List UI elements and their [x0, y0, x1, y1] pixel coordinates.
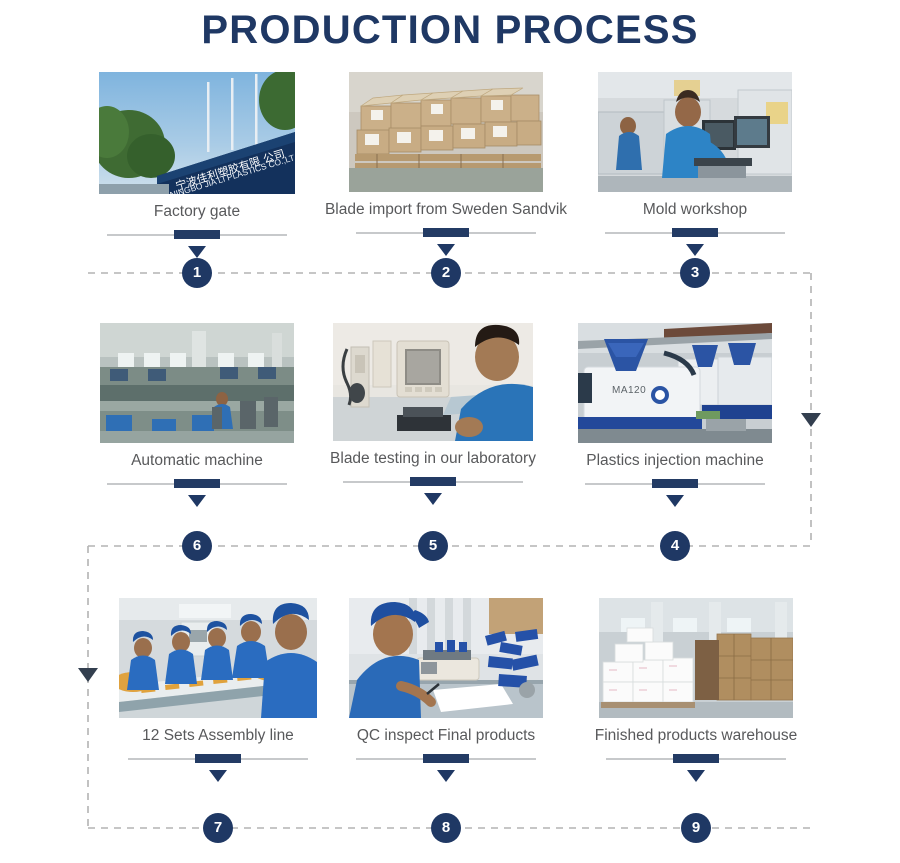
- step-triangle-icon: [188, 246, 206, 258]
- mold-workshop-photo: [598, 72, 792, 192]
- step-triangle-icon: [666, 495, 684, 507]
- process-step-4[interactable]: MA120 Plastics injection machine: [545, 323, 805, 507]
- plastics-injection-machine-photo: MA120: [578, 323, 772, 443]
- step-divider: [107, 229, 287, 241]
- page-title: PRODUCTION PROCESS: [0, 8, 900, 53]
- divider-block: [195, 754, 241, 763]
- divider-block: [673, 754, 719, 763]
- step-divider: [128, 753, 308, 765]
- step-divider: [606, 753, 786, 765]
- process-row-3: 12 Sets Assembly line: [0, 598, 900, 813]
- process-step-8[interactable]: QC inspect Final products: [316, 598, 576, 782]
- process-step-9[interactable]: Finished products warehouse: [566, 598, 826, 782]
- divider-block: [423, 754, 469, 763]
- step-number-3[interactable]: 3: [680, 258, 710, 288]
- process-row-2: Automatic machine: [0, 323, 900, 538]
- step-divider: [343, 476, 523, 488]
- process-step-5[interactable]: Blade testing in our laboratory: [303, 323, 563, 505]
- step-number-1[interactable]: 1: [182, 258, 212, 288]
- process-step-6[interactable]: Automatic machine: [67, 323, 327, 507]
- automatic-machine-photo: [100, 323, 294, 443]
- divider-block: [174, 230, 220, 239]
- process-step-7[interactable]: 12 Sets Assembly line: [88, 598, 348, 782]
- step-triangle-icon: [686, 244, 704, 256]
- assembly-line-photo: [119, 598, 317, 718]
- step-label: Factory gate: [67, 203, 327, 221]
- step-number-5[interactable]: 5: [418, 531, 448, 561]
- step-label: Blade import from Sweden Sandvik: [316, 201, 576, 219]
- step-label: 12 Sets Assembly line: [88, 727, 348, 745]
- step-number-8[interactable]: 8: [431, 813, 461, 843]
- step-triangle-icon: [437, 770, 455, 782]
- step-triangle-icon: [437, 244, 455, 256]
- step-triangle-icon: [687, 770, 705, 782]
- step-number-2[interactable]: 2: [431, 258, 461, 288]
- step-label: Plastics injection machine: [545, 452, 805, 470]
- blade-import-crates-photo: [349, 72, 543, 192]
- step-divider: [107, 478, 287, 490]
- step-number-7[interactable]: 7: [203, 813, 233, 843]
- flow-arrow-down-right: [801, 413, 821, 427]
- flow-arrow-down-left: [78, 668, 98, 682]
- process-step-2[interactable]: Blade import from Sweden Sandvik: [316, 72, 576, 256]
- step-divider: [585, 478, 765, 490]
- blade-testing-laboratory-photo: [333, 323, 533, 441]
- step-number-4[interactable]: 4: [660, 531, 690, 561]
- step-triangle-icon: [188, 495, 206, 507]
- divider-block: [652, 479, 698, 488]
- step-number-6[interactable]: 6: [182, 531, 212, 561]
- divider-block: [174, 479, 220, 488]
- qc-inspection-photo: [349, 598, 543, 718]
- process-row-1: 宁波佳利塑胶有限 公司 NINGBO JIA LI PLASTICS CO.,L…: [0, 72, 900, 287]
- step-label: Mold workshop: [565, 201, 825, 219]
- process-step-1[interactable]: 宁波佳利塑胶有限 公司 NINGBO JIA LI PLASTICS CO.,L…: [67, 72, 327, 258]
- step-label: QC inspect Final products: [316, 727, 576, 745]
- step-divider: [356, 227, 536, 239]
- step-triangle-icon: [424, 493, 442, 505]
- finished-goods-warehouse-photo: [599, 598, 793, 718]
- divider-block: [410, 477, 456, 486]
- step-divider: [356, 753, 536, 765]
- step-label: Automatic machine: [67, 452, 327, 470]
- step-triangle-icon: [209, 770, 227, 782]
- step-label: Blade testing in our laboratory: [303, 450, 563, 468]
- process-step-3[interactable]: Mold workshop: [565, 72, 825, 256]
- divider-block: [672, 228, 718, 237]
- step-divider: [605, 227, 785, 239]
- divider-block: [423, 228, 469, 237]
- factory-gate-photo: 宁波佳利塑胶有限 公司 NINGBO JIA LI PLASTICS CO.,L…: [99, 72, 295, 194]
- step-label: Finished products warehouse: [566, 727, 826, 745]
- svg-text:MA120: MA120: [612, 385, 646, 396]
- step-number-9[interactable]: 9: [681, 813, 711, 843]
